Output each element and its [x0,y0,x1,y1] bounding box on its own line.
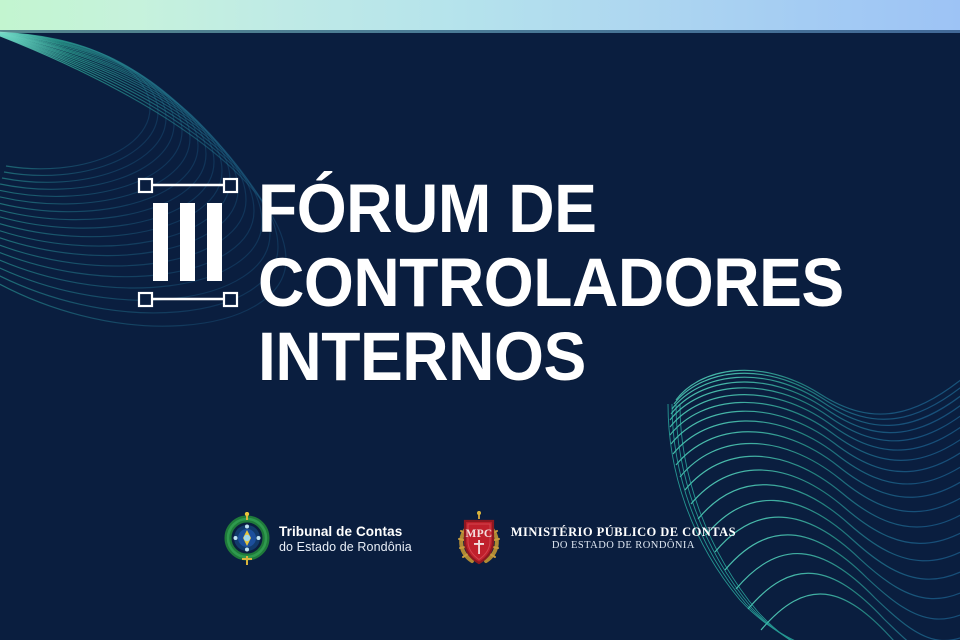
poster-canvas: FÓRUM DE CONTROLADORES INTERNOS [0,0,960,640]
ministerio-publico-wordmark: MINISTÉRIO PÚBLICO DE CONTAS DO ESTADO D… [511,525,736,553]
band-hairline-divider [0,30,960,33]
poster-title: FÓRUM DE CONTROLADORES INTERNOS [258,172,888,394]
title-line-3: INTERNOS [258,320,844,394]
tce-line-1: Tribunal de Contas [279,524,412,539]
tce-line-2: do Estado de Rondônia [279,540,412,554]
title-line-2: CONTROLADORES [258,246,844,320]
top-gradient-band [0,0,960,30]
tribunal-de-contas-emblem-icon [224,512,270,566]
title-line-1: FÓRUM DE [258,172,844,246]
ministerio-publico-shield-icon: MPC [456,511,502,567]
mpc-line-1: MINISTÉRIO PÚBLICO DE CONTAS [511,525,736,540]
edition-numeral-emblem [134,176,242,308]
footer-logo-row: Tribunal de Contas do Estado de Rondônia… [0,505,960,573]
logo-ministerio-publico-de-contas: MPC MINISTÉRIO PÚBLICO DE CONTAS DO ESTA… [456,511,736,567]
svg-text:MPC: MPC [465,528,492,540]
logo-tribunal-de-contas: Tribunal de Contas do Estado de Rondônia [224,512,412,566]
tribunal-de-contas-wordmark: Tribunal de Contas do Estado de Rondônia [279,524,412,553]
mpc-line-2: DO ESTADO DE RONDÔNIA [511,540,736,553]
